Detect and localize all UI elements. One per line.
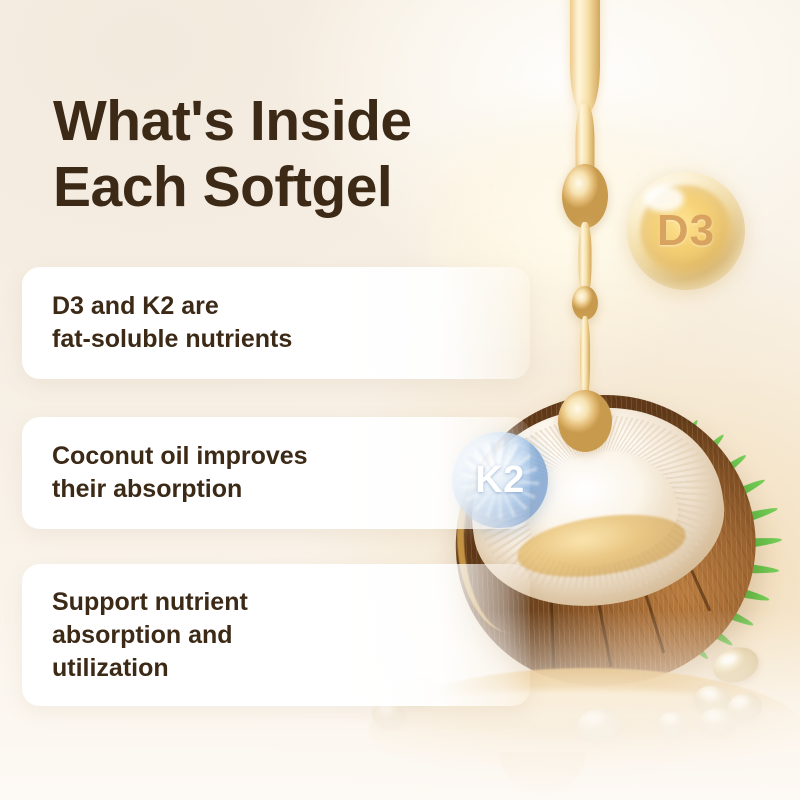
d3-nutrient-bubble: D3 <box>627 172 745 290</box>
k2-bubble-label: K2 <box>475 459 525 502</box>
feature-card-absorption: Coconut oil improves their absorption <box>22 417 530 529</box>
page-title-line-1: What's Inside <box>53 89 412 153</box>
feature-card-utilization: Support nutrient absorption and utilizat… <box>22 564 530 706</box>
page-title: What's Inside Each Softgel <box>53 88 573 220</box>
oil-stream <box>548 0 622 484</box>
feature-card-nutrients: D3 and K2 are fat-soluble nutrients <box>22 267 530 379</box>
d3-bubble-label: D3 <box>657 206 715 256</box>
infographic-canvas: D3 K2 What's Inside Each Softgel D3 and … <box>0 0 800 800</box>
feature-card-text: D3 and K2 are fat-soluble nutrients <box>22 290 316 356</box>
feature-card-text: Support nutrient absorption and utilizat… <box>22 586 272 685</box>
page-title-line-2: Each Softgel <box>53 154 573 220</box>
feature-card-text: Coconut oil improves their absorption <box>22 440 332 506</box>
